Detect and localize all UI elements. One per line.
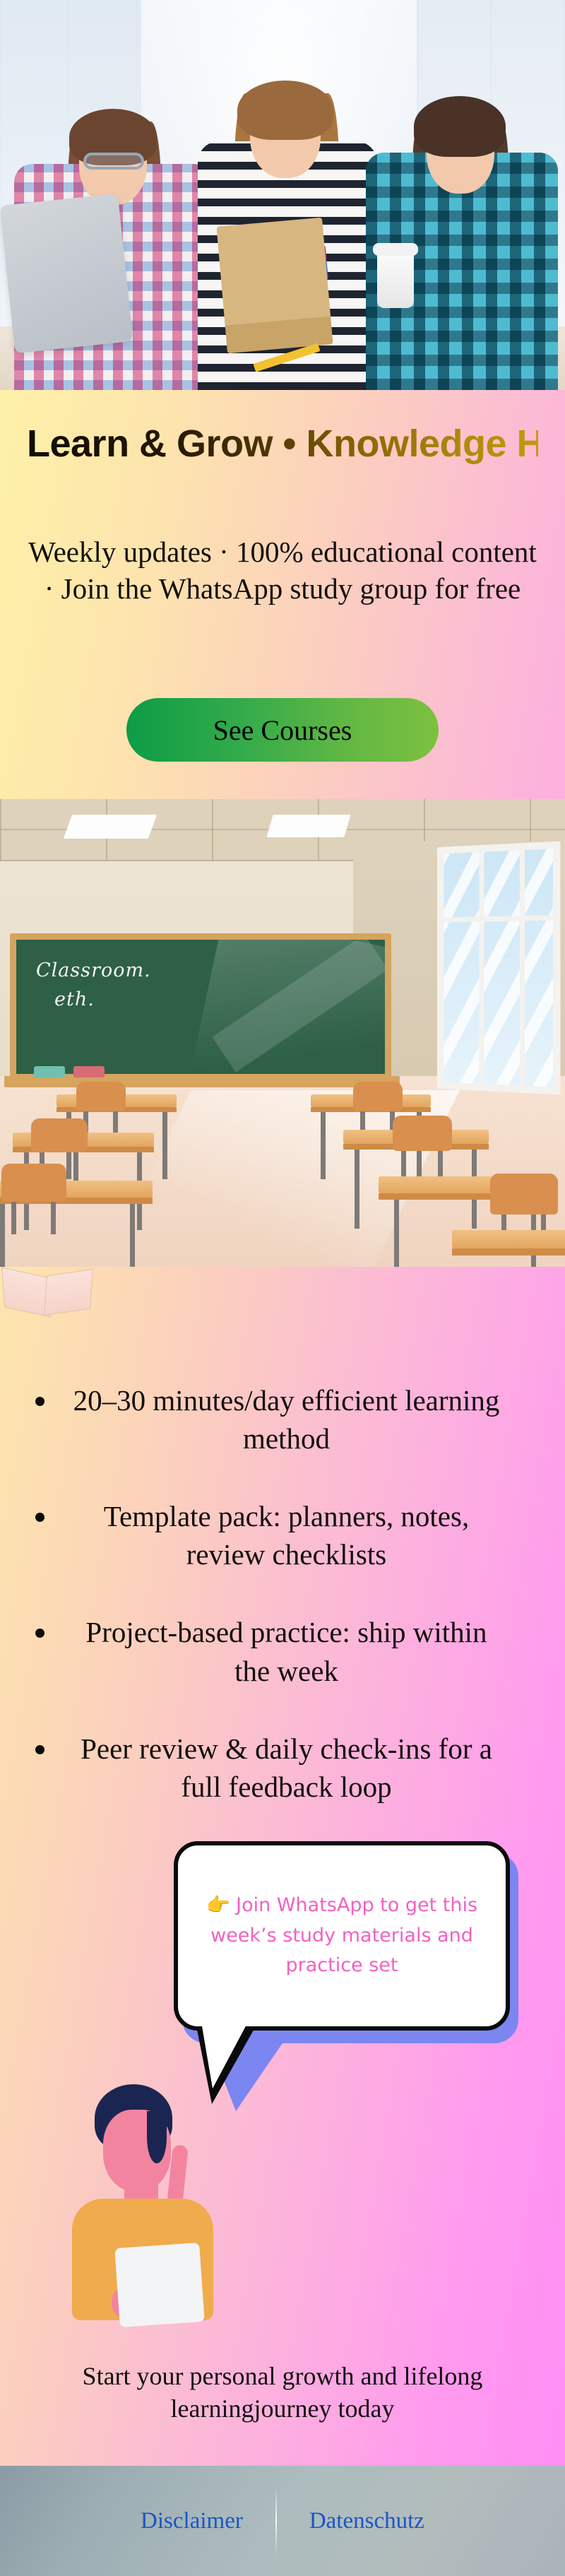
hair-icon [414,96,506,157]
list-item: Peer review & daily check-ins for a full… [17,1730,548,1806]
coffee-lid-icon [373,243,418,256]
red-eraser-icon [73,1066,105,1077]
chair [1,1164,66,1216]
hero-student-right [353,86,565,390]
list-item: Template pack: planners, notes, review c… [17,1497,548,1573]
book-page-right [44,1269,93,1316]
open-book-icon [1,1268,93,1325]
hair-tuft-icon [147,2111,167,2163]
coffee-cup-icon [377,253,414,308]
chair [76,1082,126,1124]
green-eraser-icon [34,1066,65,1077]
landing-page: Learn & Grow • Knowledge Hub Weekly upda… [0,0,565,2576]
window-mullion [479,852,484,1084]
list-item: 20–30 minutes/day efficient learning met… [17,1381,548,1458]
list-item: Project-based practice: ship within the … [17,1613,548,1689]
chalkboard: Classroom. eth. [10,933,391,1080]
pointing-hand-icon: 👉 [206,1894,230,1916]
hero-photo [0,0,565,390]
ceiling-light-icon [64,815,157,839]
bullet-dot-icon [35,1629,44,1638]
cta-container: See Courses [0,698,565,762]
headline-block: Learn & Grow • Knowledge Hub [0,424,565,464]
desk [452,1230,565,1267]
notebook-icon [216,218,333,353]
book-page-left [1,1267,51,1317]
list-item-label: Peer review & daily check-ins for a full… [66,1730,548,1806]
closing-statement: Start your personal growth and lifelong … [0,2360,565,2425]
bubble-tail-fill [201,2022,248,2088]
chalk-line-1: Classroom. [36,959,151,981]
laptop-icon [114,2243,205,2327]
chair [31,1118,88,1165]
list-item-label: 20–30 minutes/day efficient learning met… [66,1381,548,1458]
ceiling-light-icon [266,815,350,837]
list-item-label: Project-based practice: ship within the … [66,1613,548,1689]
bullet-dot-icon [35,1513,44,1522]
person-illustration [56,2084,261,2317]
chalk-line-2: eth. [54,986,151,1015]
bullet-dot-icon [35,1745,44,1754]
footer-link-disclaimer[interactable]: Disclaimer [108,2508,275,2534]
subheadline: Weekly updates · 100% educational conten… [0,533,565,608]
see-courses-button[interactable]: See Courses [126,698,439,762]
chair [393,1116,452,1164]
page-title: Learn & Grow • Knowledge Hub [27,424,538,464]
bullet-dot-icon [35,1397,44,1406]
footer-bar: Disclaimer Datenschutz [0,2466,565,2576]
classroom-illustration: Classroom. eth. [0,799,565,1267]
footer-link-datenschutz[interactable]: Datenschutz [277,2508,457,2534]
hair-icon [237,81,333,140]
laptop-icon [0,194,133,353]
whatsapp-callout-bubble[interactable]: 👉 Join WhatsApp to get this week’s study… [174,1841,510,2031]
classroom-window [437,841,560,1095]
bubble-text-row: 👉 Join WhatsApp to get this week’s study… [178,1891,506,1981]
bubble-text: Join WhatsApp to get this week’s study m… [210,1894,477,1976]
window-mullion [520,850,525,1086]
window-light-rays [437,841,560,1095]
chalk-text: Classroom. eth. [36,957,151,1014]
chair [490,1174,558,1229]
glasses-icon [83,153,144,170]
callout-block: 👉 Join WhatsApp to get this week’s study… [0,1837,565,2374]
feature-list: 20–30 minutes/day efficient learning met… [0,1381,565,1845]
list-item-label: Template pack: planners, notes, review c… [66,1497,548,1573]
chalk-tray [4,1076,400,1087]
